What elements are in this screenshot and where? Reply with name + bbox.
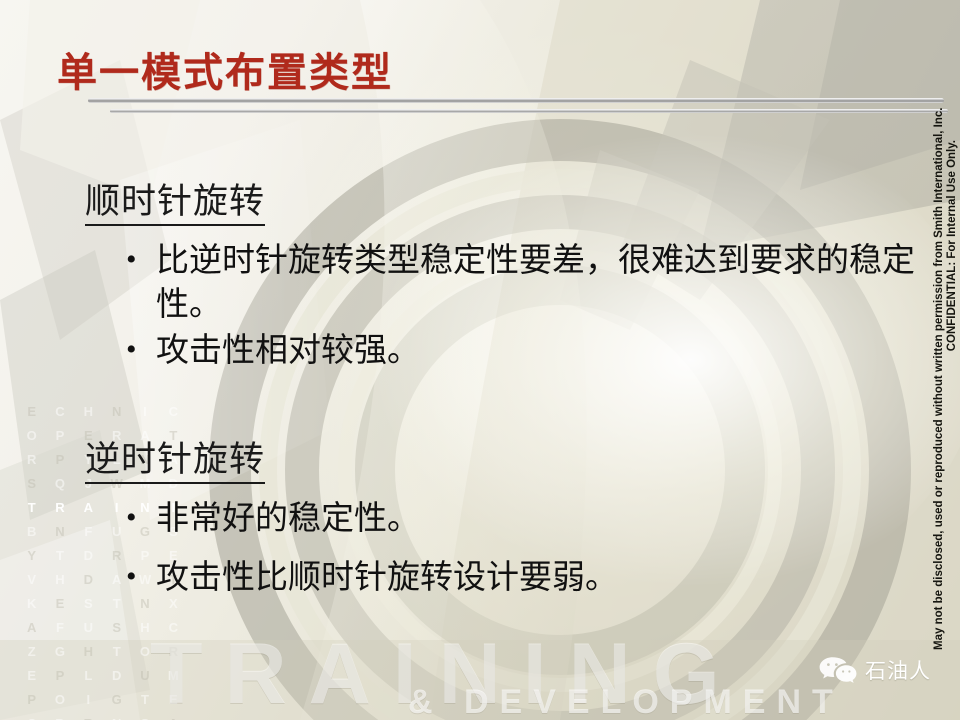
bullet-text: 攻击性相对较强。 [156,330,726,374]
bullet-marker: • [126,498,156,538]
wechat-watermark: 石油人 [818,655,931,685]
bullet-marker: • [126,330,156,370]
bullet-text: 非常好的稳定性。 [156,498,726,542]
bullet-marker: • [126,240,156,280]
wechat-icon [818,655,858,685]
section-heading-clockwise: 顺时针旋转 [85,182,265,226]
confidential-line-2: May not be disclosed, used or reproduced… [933,140,945,650]
confidential-line-2-text: May not be disclosed, used or reproduced… [933,140,945,650]
bullet-item: • 攻击性比顺时针旋转设计要弱。 [126,557,746,601]
slide-body: 顺时针旋转 • 比逆时针旋转类型稳定性要差，很难达到要求的稳定性。 • 攻击性相… [0,0,960,720]
bullet-item: • 攻击性相对较强。 [126,330,726,374]
bullet-item: • 比逆时针旋转类型稳定性要差，很难达到要求的稳定性。 [126,240,916,328]
section-heading-counterclockwise: 逆时针旋转 [85,440,265,484]
bullet-item: • 非常好的稳定性。 [126,498,726,542]
slide-root: ECHNICOPERATRPYLNASQJWMDTRAINIBNFUGSYTDR… [0,0,960,720]
wechat-label: 石油人 [865,655,931,685]
confidential-notice: CONFIDENTIAL: For Internal Use Only. May… [922,140,958,650]
bullet-text: 攻击性比顺时针旋转设计要弱。 [156,557,746,601]
confidential-line-1-text: CONFIDENTIAL: For Internal Use Only. [946,140,958,650]
confidential-line-1: CONFIDENTIAL: For Internal Use Only. [946,140,958,650]
bullet-marker: • [126,557,156,597]
bullet-text: 比逆时针旋转类型稳定性要差，很难达到要求的稳定性。 [156,240,916,328]
